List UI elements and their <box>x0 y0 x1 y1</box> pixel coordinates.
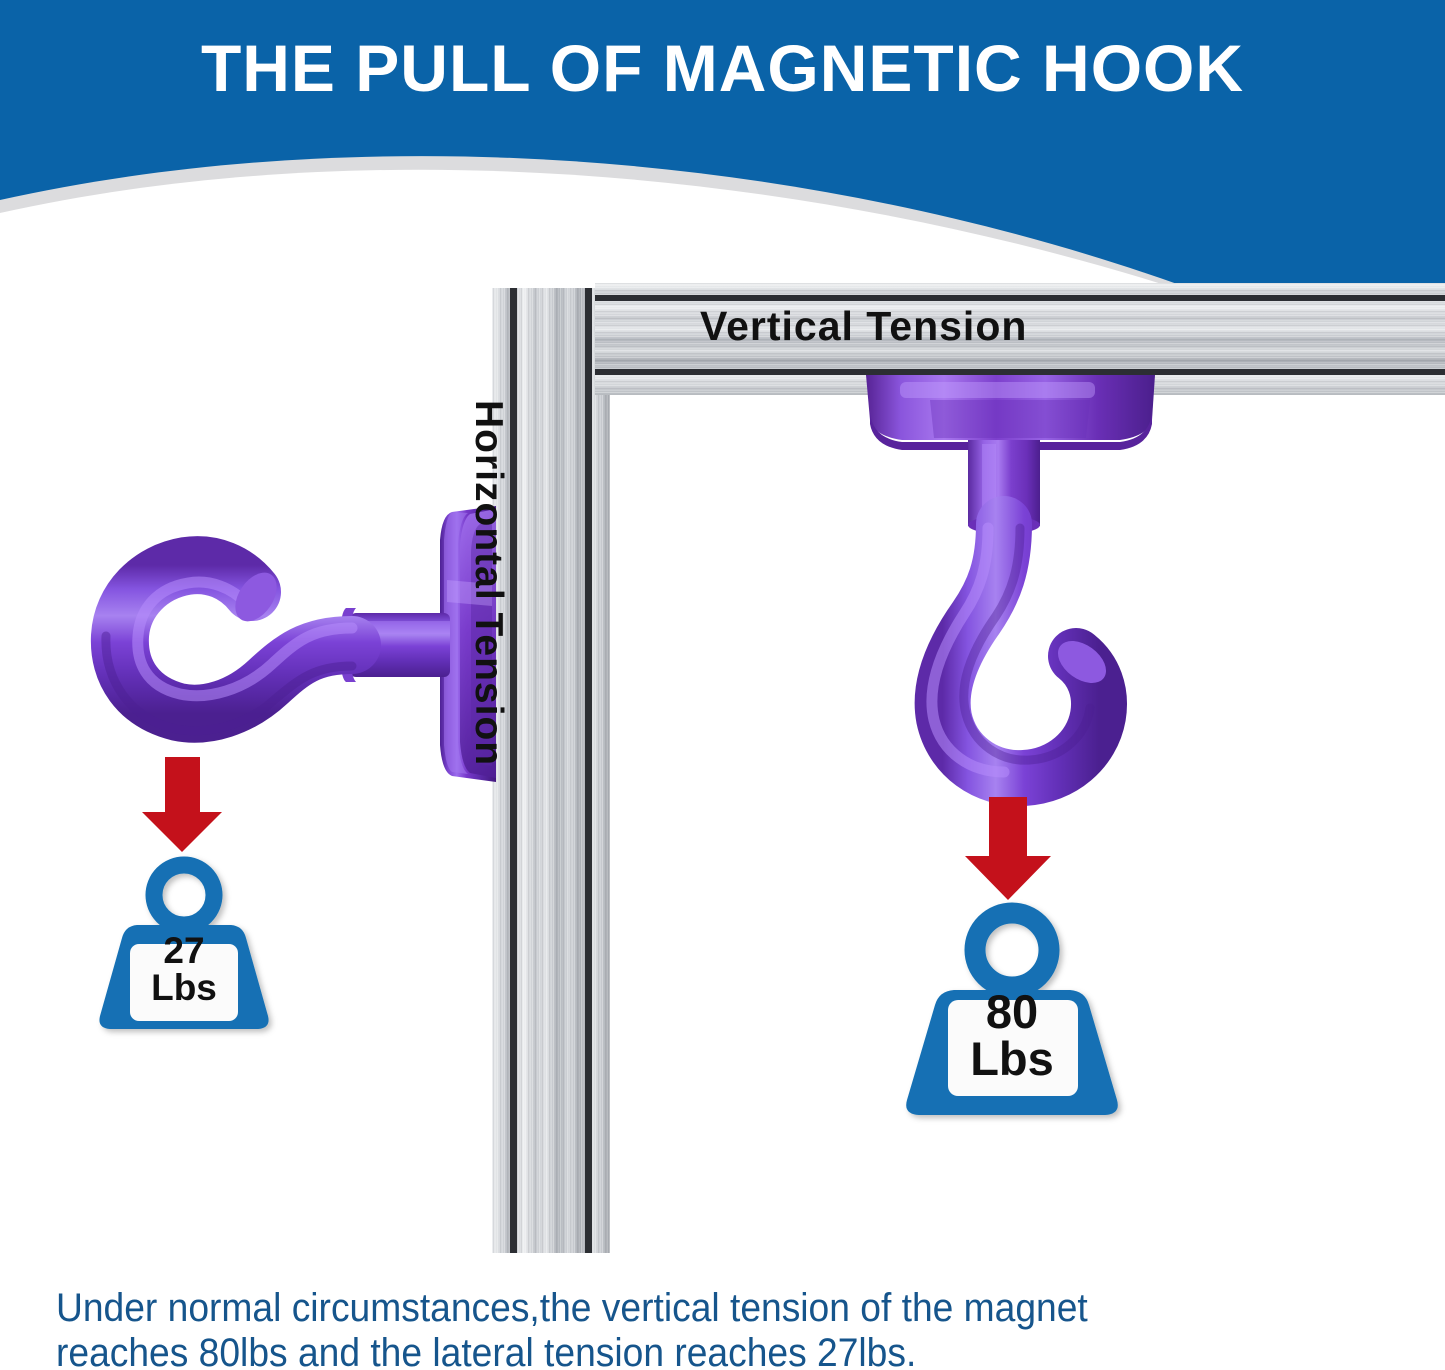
weight-left-value: 27 <box>126 932 242 969</box>
magnet-disc-vertical <box>866 375 1155 450</box>
caption-block: Under normal circumstances,the vertical … <box>56 1286 1302 1370</box>
weight-right-unit: Lbs <box>942 1035 1082 1082</box>
weight-right-label: 80 Lbs <box>942 988 1082 1082</box>
weight-left-unit: Lbs <box>126 969 242 1006</box>
horizontal-magnet-hook <box>106 506 496 782</box>
caption-line-1: Under normal circumstances,the vertical … <box>56 1286 1302 1331</box>
arrow-down-right <box>965 797 1051 900</box>
hook-curve-vertical <box>932 524 1114 778</box>
weight-left-label: 27 Lbs <box>126 932 242 1006</box>
infographic-page: THE PULL OF MAGNETIC HOOK <box>0 0 1445 1370</box>
horizontal-tension-label: Horizontal Tension <box>466 400 510 766</box>
weight-right-value: 80 <box>942 988 1082 1035</box>
vertical-tension-label: Vertical Tension <box>700 303 1027 350</box>
diagram-scene: Vertical Tension Horizontal Tension 27 L… <box>0 0 1445 1370</box>
caption-line-2: reaches 80lbs and the lateral tension re… <box>56 1331 1302 1370</box>
vertical-magnet-hook <box>866 375 1155 778</box>
hook-curve-horizontal <box>106 565 352 731</box>
arrow-down-left <box>142 757 222 852</box>
